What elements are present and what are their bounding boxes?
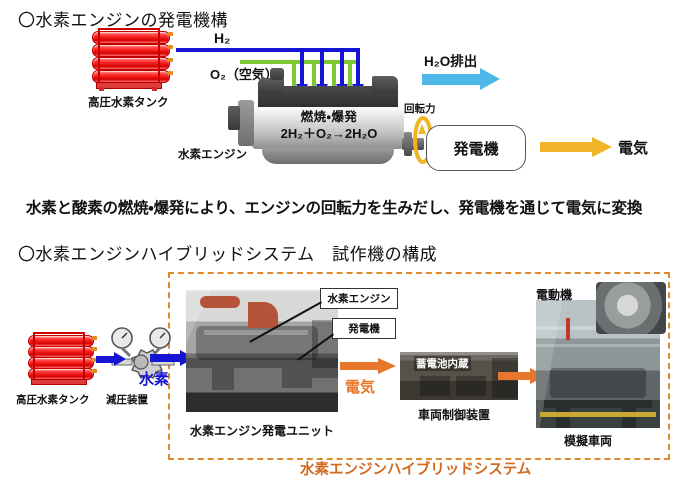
engine-intake-manifold	[258, 78, 284, 94]
tank-foot	[99, 87, 104, 91]
hydrogen-engine-generator-unit-photo	[186, 290, 338, 412]
tank-nozzle	[168, 71, 173, 75]
section1-caption: 水素と酸素の燃焼・爆発により、エンジンの回転力を生みだし、発電機を通じて電気に変…	[26, 196, 642, 218]
hydrogen-flow-label: 水素	[139, 368, 169, 389]
photo-detail	[550, 368, 646, 398]
photo-detail	[186, 290, 338, 292]
engine-bracket	[228, 106, 240, 130]
photo-detail	[200, 296, 240, 308]
h2-branch	[356, 48, 360, 86]
arrow-head	[378, 358, 396, 374]
callout-hydrogen-engine: 水素エンジン	[320, 288, 398, 309]
arrow-shaft	[540, 142, 592, 152]
photo-detail	[400, 352, 518, 355]
photo-detail	[540, 412, 656, 417]
arrow-shaft	[340, 362, 378, 370]
tank-nozzle	[92, 347, 97, 351]
h2-branch	[320, 48, 324, 86]
photo-detail	[536, 344, 660, 347]
generator-label: 発電機	[453, 138, 498, 159]
engine-oil-pan	[262, 148, 394, 164]
combustion-title: 燃焼・爆発	[256, 110, 402, 126]
arrow-shaft	[150, 354, 180, 362]
electricity-arrow	[540, 137, 612, 157]
tank-nozzle	[92, 369, 97, 373]
regulator-label: 減圧装置	[106, 392, 148, 407]
photo-detail	[556, 408, 570, 428]
h2-branch	[340, 48, 344, 86]
photo-detail	[622, 408, 636, 428]
combustion-formula-box: 燃焼・爆発 2H₂＋O₂→2H₂O	[256, 110, 402, 142]
electricity-label-2: 電気	[345, 376, 375, 397]
tank-base	[31, 379, 87, 385]
tank-frame	[98, 28, 160, 87]
h2o-exhaust-label: H₂O排出	[424, 50, 477, 70]
electricity-arrow-2	[340, 358, 396, 374]
engine-mount	[270, 68, 284, 80]
photo-detail	[544, 400, 652, 408]
callout-generator: 発電機	[332, 318, 396, 339]
arrow-shaft	[96, 356, 116, 363]
engine-front-plate	[238, 100, 254, 146]
engine-accessory-block	[372, 76, 398, 94]
photo-detail	[420, 376, 450, 396]
photo-detail	[282, 368, 312, 388]
hybrid-system-label: 水素エンジンハイブリッドシステム	[300, 458, 531, 479]
arrow-head	[114, 352, 126, 366]
photo-detail	[456, 376, 486, 396]
callout-label: 水素エンジン	[328, 291, 391, 306]
generator-box: 発電機	[426, 125, 526, 171]
tank-label: 高圧水素タンク	[88, 94, 169, 110]
callout-label: 発電機	[348, 321, 380, 336]
engine-unit-caption: 水素エンジン発電ユニット	[190, 422, 334, 439]
high-pressure-hydrogen-tank-2	[28, 334, 100, 384]
photo-detail	[212, 368, 234, 390]
photo-detail	[204, 330, 308, 335]
vehicle-caption: 模擬車両	[564, 432, 612, 449]
h2-label: H₂	[214, 30, 230, 46]
tank-frame	[33, 332, 85, 384]
high-pressure-hydrogen-tank	[92, 30, 176, 86]
arrow-head	[480, 68, 500, 90]
motor-label: 電動機	[536, 286, 572, 303]
tank-nozzle	[168, 32, 173, 36]
combustion-formula: 2H₂＋O₂→2H₂O	[256, 126, 402, 142]
section2-heading: 〇水素エンジンハイブリッドシステム 試作機の構成	[18, 240, 437, 265]
electric-motor-photo	[596, 282, 666, 334]
arrow-head	[592, 137, 612, 157]
arrow-shaft	[422, 74, 480, 85]
tank-nozzle	[168, 45, 173, 49]
hydrogen-flow-arrow-left	[96, 352, 126, 366]
tank-foot	[152, 87, 157, 91]
vcu-caption: 車両制御装置	[418, 406, 490, 423]
tank-nozzle	[168, 58, 173, 62]
tank-nozzle	[92, 336, 97, 340]
h2-branch	[300, 48, 304, 86]
h2o-exhaust-arrow	[422, 68, 500, 90]
tank-label-2: 高圧水素タンク	[16, 392, 90, 407]
arrow-shaft	[498, 372, 530, 380]
battery-overlay-label: 蓄電池内蔵	[414, 356, 471, 371]
photo-detail	[248, 302, 278, 328]
torque-label: 回転力	[404, 101, 436, 116]
h2-pipe-main	[176, 48, 356, 52]
electricity-label: 電気	[618, 137, 648, 158]
engine-label: 水素エンジン	[178, 146, 247, 162]
photo-detail	[566, 318, 570, 340]
